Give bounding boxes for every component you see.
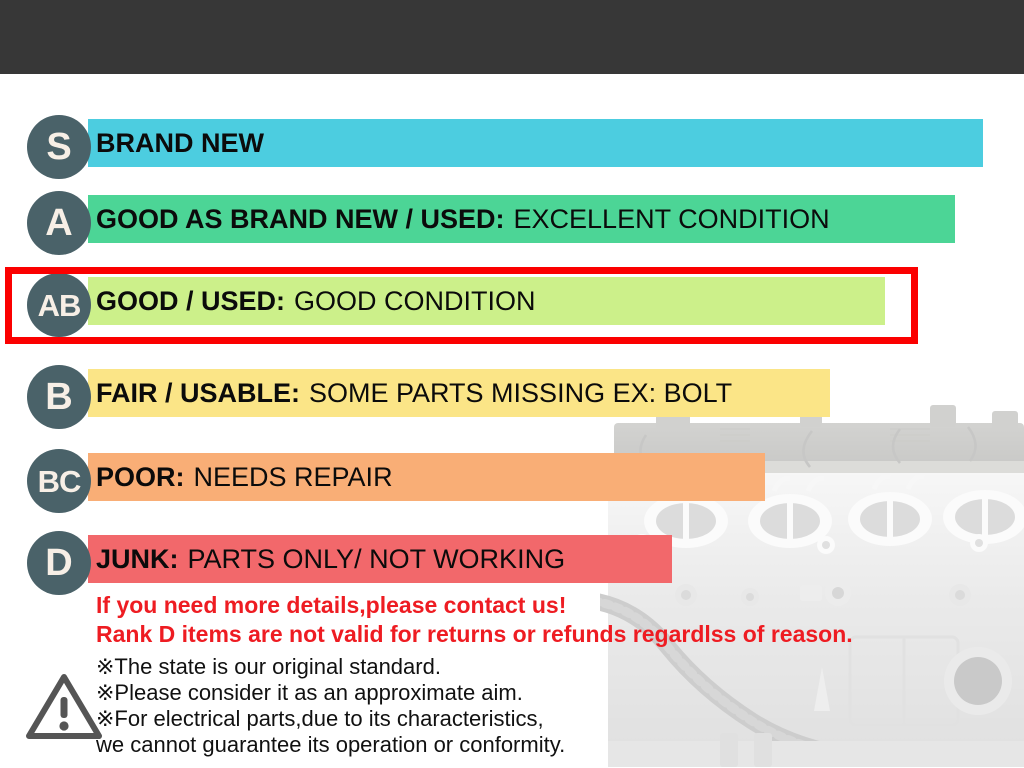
rank-label-bc: POOR: NEEDS REPAIR xyxy=(96,453,393,501)
rank-label-normal: GOOD CONDITION xyxy=(294,286,536,317)
rank-badge-a: A xyxy=(27,191,91,255)
note-black-line: ※The state is our original standard. xyxy=(96,654,441,680)
rank-label-normal: SOME PARTS MISSING EX: BOLT xyxy=(309,378,732,409)
rank-label-normal: NEEDS REPAIR xyxy=(194,462,393,493)
rank-label-bold: JUNK: xyxy=(96,544,179,575)
note-red-line: Rank D items are not valid for returns o… xyxy=(96,621,853,648)
rank-label-bold: GOOD / USED: xyxy=(96,286,285,317)
note-black-line: ※Please consider it as an approximate ai… xyxy=(96,680,523,706)
rank-label-normal: EXCELLENT CONDITION xyxy=(514,204,830,235)
rank-label-bold: BRAND NEW xyxy=(96,128,264,159)
rank-label-s: BRAND NEW xyxy=(96,119,264,167)
rank-badge-b: B xyxy=(27,365,91,429)
rank-label-normal: PARTS ONLY/ NOT WORKING xyxy=(188,544,566,575)
header-bar xyxy=(0,0,1024,74)
rank-badge-bc: BC xyxy=(27,449,91,513)
note-red-line: If you need more details,please contact … xyxy=(96,592,566,619)
note-black-line: ※For electrical parts,due to its charact… xyxy=(96,706,544,732)
rank-label-bold: GOOD AS BRAND NEW / USED: xyxy=(96,204,505,235)
rank-badge-s: S xyxy=(27,115,91,179)
rank-label-bold: POOR: xyxy=(96,462,185,493)
rank-label-a: GOOD AS BRAND NEW / USED: EXCELLENT COND… xyxy=(96,195,830,243)
rank-label-b: FAIR / USABLE: SOME PARTS MISSING EX: BO… xyxy=(96,369,732,417)
rank-label-d: JUNK: PARTS ONLY/ NOT WORKING xyxy=(96,535,565,583)
rank-label-bold: FAIR / USABLE: xyxy=(96,378,300,409)
rank-badge-d: D xyxy=(27,531,91,595)
warning-triangle-icon xyxy=(26,672,102,740)
rank-badge-ab: AB xyxy=(27,273,91,337)
rank-label-ab: GOOD / USED: GOOD CONDITION xyxy=(96,277,536,325)
note-black-line: we cannot guarantee its operation or con… xyxy=(96,732,565,758)
